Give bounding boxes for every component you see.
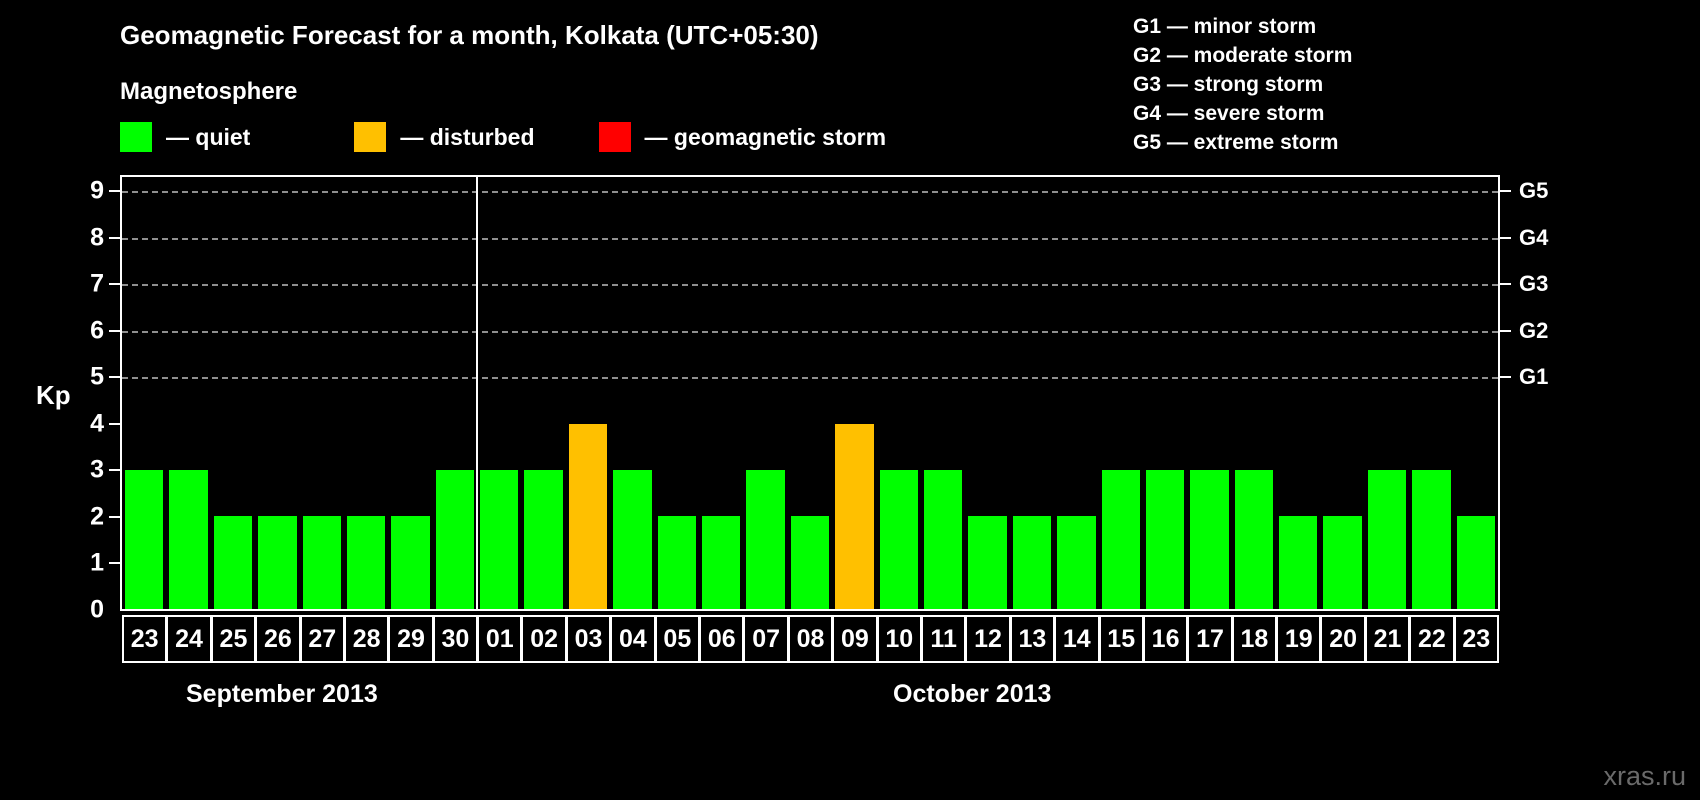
legend-label-disturbed: — disturbed <box>400 124 534 151</box>
bar-slot <box>1276 177 1320 609</box>
y-tick-9 <box>109 190 120 192</box>
date-cell-15[interactable]: 15 <box>1099 615 1144 663</box>
bar-14[interactable] <box>1057 516 1095 609</box>
y-tick-1 <box>109 562 120 564</box>
bar-slot <box>433 177 477 609</box>
date-cell-22[interactable]: 22 <box>1409 615 1454 663</box>
y-tick-6 <box>109 330 120 332</box>
date-cell-10[interactable]: 10 <box>877 615 922 663</box>
bar-02[interactable] <box>524 470 562 609</box>
g-label-g1: G1 <box>1519 364 1548 390</box>
storm-swatch-icon <box>599 122 631 152</box>
disturbed-swatch-icon <box>354 122 386 152</box>
bar-slot <box>1320 177 1364 609</box>
bar-27[interactable] <box>303 516 341 609</box>
y-tick-label-8: 8 <box>64 223 104 252</box>
month-caption-october: October 2013 <box>893 680 1051 709</box>
bar-slot <box>1232 177 1276 609</box>
bar-06[interactable] <box>702 516 740 609</box>
y-tick-8 <box>109 237 120 239</box>
bar-slot <box>477 177 521 609</box>
bar-23[interactable] <box>1457 516 1495 609</box>
bar-slot <box>1454 177 1498 609</box>
date-cell-02[interactable]: 02 <box>521 615 566 663</box>
date-cell-06[interactable]: 06 <box>699 615 744 663</box>
date-cell-23[interactable]: 23 <box>1454 615 1499 663</box>
gscale-line-g5: G5 — extreme storm <box>1133 128 1352 157</box>
bar-slot <box>122 177 166 609</box>
bar-26[interactable] <box>258 516 296 609</box>
y-tick-label-3: 3 <box>64 456 104 485</box>
bar-10[interactable] <box>880 470 918 609</box>
g-label-g2: G2 <box>1519 318 1548 344</box>
bar-slot <box>1054 177 1098 609</box>
date-cell-28[interactable]: 28 <box>344 615 389 663</box>
bar-20[interactable] <box>1323 516 1361 609</box>
bar-slot <box>743 177 787 609</box>
y-tick-2 <box>109 516 120 518</box>
plot-baseline <box>120 609 1500 611</box>
date-cell-01[interactable]: 01 <box>477 615 522 663</box>
date-cell-26[interactable]: 26 <box>255 615 300 663</box>
bar-17[interactable] <box>1190 470 1228 609</box>
g-tick-g3 <box>1500 283 1511 285</box>
y-tick-label-7: 7 <box>64 270 104 299</box>
y-tick-label-2: 2 <box>64 502 104 531</box>
bar-03[interactable] <box>569 424 607 609</box>
date-cell-19[interactable]: 19 <box>1276 615 1321 663</box>
bar-slot <box>965 177 1009 609</box>
y-tick-label-9: 9 <box>64 177 104 206</box>
bar-25[interactable] <box>214 516 252 609</box>
bar-16[interactable] <box>1146 470 1184 609</box>
y-tick-4 <box>109 423 120 425</box>
date-cell-09[interactable]: 09 <box>832 615 877 663</box>
g-label-g5: G5 <box>1519 178 1548 204</box>
gscale-line-g3: G3 — strong storm <box>1133 70 1352 99</box>
magnetosphere-label: Magnetosphere <box>120 78 297 106</box>
y-tick-label-6: 6 <box>64 316 104 345</box>
bar-slot <box>877 177 921 609</box>
bar-slot <box>788 177 832 609</box>
bar-slot <box>699 177 743 609</box>
bar-slot <box>1143 177 1187 609</box>
date-cell-23[interactable]: 23 <box>122 615 167 663</box>
bar-18[interactable] <box>1235 470 1273 609</box>
page-title: Geomagnetic Forecast for a month, Kolkat… <box>120 20 819 51</box>
legend-item-storm: — geomagnetic storm <box>599 122 887 152</box>
bar-21[interactable] <box>1368 470 1406 609</box>
date-cell-05[interactable]: 05 <box>655 615 700 663</box>
magnetosphere-legend: — quiet — disturbed — geomagnetic storm <box>120 122 886 152</box>
g-tick-g1 <box>1500 376 1511 378</box>
date-cell-17[interactable]: 17 <box>1187 615 1232 663</box>
bar-slot <box>255 177 299 609</box>
g-tick-g4 <box>1500 237 1511 239</box>
bar-07[interactable] <box>746 470 784 609</box>
y-tick-label-1: 1 <box>64 549 104 578</box>
bar-slot <box>1409 177 1453 609</box>
date-cell-12[interactable]: 12 <box>965 615 1010 663</box>
y-tick-label-0: 0 <box>64 596 104 625</box>
y-axis-labels: 0123456789 <box>48 0 104 800</box>
bar-22[interactable] <box>1412 470 1450 609</box>
date-cell-29[interactable]: 29 <box>388 615 433 663</box>
date-cell-30[interactable]: 30 <box>433 615 478 663</box>
gscale-line-g4: G4 — severe storm <box>1133 99 1352 128</box>
y-tick-3 <box>109 469 120 471</box>
quiet-swatch-icon <box>120 122 152 152</box>
month-caption-september: September 2013 <box>186 680 378 709</box>
date-cell-04[interactable]: 04 <box>610 615 655 663</box>
bar-slot <box>300 177 344 609</box>
bar-28[interactable] <box>347 516 385 609</box>
month-divider <box>476 175 478 611</box>
bar-slot <box>566 177 610 609</box>
y-tick-7 <box>109 283 120 285</box>
bar-09[interactable] <box>835 424 873 609</box>
bar-12[interactable] <box>968 516 1006 609</box>
gscale-line-g1: G1 — minor storm <box>1133 12 1352 41</box>
bar-slot <box>166 177 210 609</box>
bar-05[interactable] <box>658 516 696 609</box>
bar-19[interactable] <box>1279 516 1317 609</box>
date-cell-25[interactable]: 25 <box>211 615 256 663</box>
bar-08[interactable] <box>791 516 829 609</box>
legend-item-disturbed: — disturbed <box>354 122 534 152</box>
legend-label-storm: — geomagnetic storm <box>645 124 887 151</box>
g-label-g4: G4 <box>1519 225 1548 251</box>
legend-label-quiet: — quiet <box>166 124 250 151</box>
date-cell-20[interactable]: 20 <box>1320 615 1365 663</box>
g-label-g3: G3 <box>1519 271 1548 297</box>
bar-slot <box>388 177 432 609</box>
bar-11[interactable] <box>924 470 962 609</box>
bar-slot <box>211 177 255 609</box>
date-cell-18[interactable]: 18 <box>1232 615 1277 663</box>
date-cell-08[interactable]: 08 <box>788 615 833 663</box>
bar-slot <box>1187 177 1231 609</box>
bar-slot <box>921 177 965 609</box>
gscale-line-g2: G2 — moderate storm <box>1133 41 1352 70</box>
bar-30[interactable] <box>436 470 474 609</box>
date-cell-16[interactable]: 16 <box>1143 615 1188 663</box>
bar-slot <box>832 177 876 609</box>
date-cell-07[interactable]: 07 <box>743 615 788 663</box>
legend-item-quiet: — quiet <box>120 122 250 152</box>
bar-slot <box>610 177 654 609</box>
date-cell-14[interactable]: 14 <box>1054 615 1099 663</box>
date-cell-27[interactable]: 27 <box>300 615 345 663</box>
bar-slot <box>521 177 565 609</box>
date-axis: 2324252627282930010203040506070809101112… <box>120 615 1500 663</box>
date-cell-13[interactable]: 13 <box>1010 615 1055 663</box>
g-tick-g5 <box>1500 190 1511 192</box>
bar-slot <box>655 177 699 609</box>
bar-24[interactable] <box>169 470 207 609</box>
bar-23[interactable] <box>125 470 163 609</box>
bar-29[interactable] <box>391 516 429 609</box>
bar-01[interactable] <box>480 470 518 609</box>
bar-slot <box>344 177 388 609</box>
date-cell-24[interactable]: 24 <box>166 615 211 663</box>
bar-13[interactable] <box>1013 516 1051 609</box>
date-cell-11[interactable]: 11 <box>921 615 966 663</box>
y-tick-5 <box>109 376 120 378</box>
y-tick-label-4: 4 <box>64 409 104 438</box>
bar-slot <box>1099 177 1143 609</box>
bar-slot <box>1365 177 1409 609</box>
date-cell-21[interactable]: 21 <box>1365 615 1410 663</box>
g-tick-g2 <box>1500 330 1511 332</box>
date-cell-03[interactable]: 03 <box>566 615 611 663</box>
y-tick-label-5: 5 <box>64 363 104 392</box>
bar-15[interactable] <box>1102 470 1140 609</box>
watermark: xras.ru <box>1603 761 1686 792</box>
bars-layer <box>122 177 1498 609</box>
bar-slot <box>1010 177 1054 609</box>
bar-04[interactable] <box>613 470 651 609</box>
gscale-legend: G1 — minor storm G2 — moderate storm G3 … <box>1133 12 1352 157</box>
